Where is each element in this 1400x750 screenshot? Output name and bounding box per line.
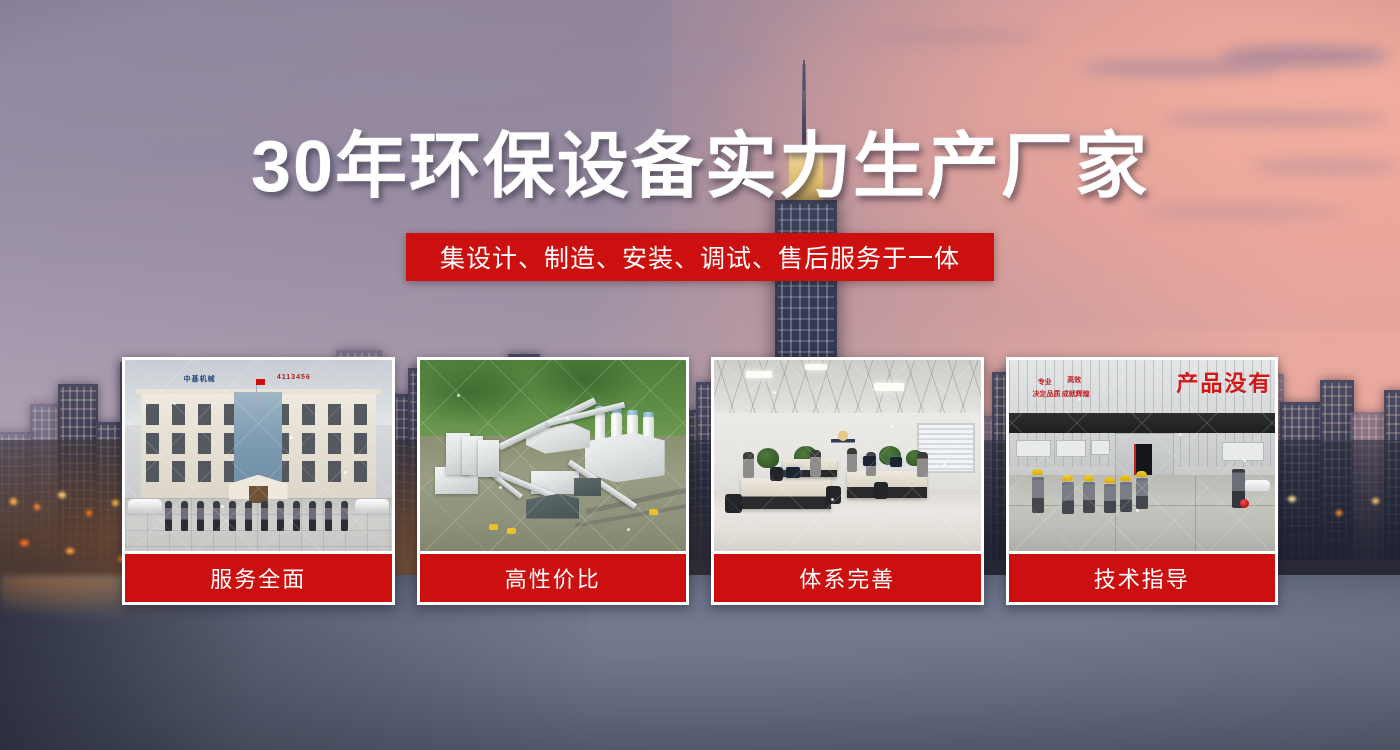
- parked-car: [355, 499, 389, 513]
- building-phone-text: 4113456: [277, 374, 311, 381]
- workshop-team-photo: 产品没有 专业 高效 决定品质 成就辉煌: [1009, 360, 1276, 554]
- factory-sign-text: 产品没有: [1176, 366, 1272, 398]
- national-flag: [256, 379, 265, 385]
- feature-card[interactable]: 体系完善: [711, 357, 984, 605]
- feature-card-row: 中基机械 4113456: [122, 357, 1278, 605]
- feature-card-caption: 服务全面: [125, 554, 392, 602]
- wall-decal: [831, 427, 855, 449]
- feature-card-caption: 高性价比: [420, 554, 687, 602]
- feature-card[interactable]: 高性价比: [417, 357, 690, 605]
- feature-card-caption: 技术指导: [1009, 554, 1276, 602]
- feature-card-caption: 体系完善: [714, 554, 981, 602]
- building-sign-text: 中基机械: [184, 374, 216, 384]
- production-plant-aerial-photo: [420, 360, 687, 554]
- company-headquarters-photo: 中基机械 4113456: [125, 360, 392, 554]
- subtitle-banner: 集设计、制造、安装、调试、售后服务于一体: [406, 233, 994, 281]
- factory-slogan-4: 成就辉煌: [1062, 391, 1090, 399]
- factory-slogan-2: 高效: [1067, 377, 1081, 385]
- promo-banner: 30年环保设备实力生产厂家 集设计、制造、安装、调试、售后服务于一体 中基机械 …: [0, 0, 1400, 750]
- page-title: 30年环保设备实力生产厂家: [0, 131, 1400, 203]
- feature-card[interactable]: 产品没有 专业 高效 决定品质 成就辉煌: [1006, 357, 1279, 605]
- factory-slogan-1: 专业: [1038, 379, 1052, 387]
- office-interior-photo: [714, 360, 981, 554]
- parked-car: [1244, 480, 1270, 491]
- parked-car: [128, 499, 162, 513]
- factory-slogan-3: 决定品质: [1032, 391, 1060, 399]
- feature-card[interactable]: 中基机械 4113456: [122, 357, 395, 605]
